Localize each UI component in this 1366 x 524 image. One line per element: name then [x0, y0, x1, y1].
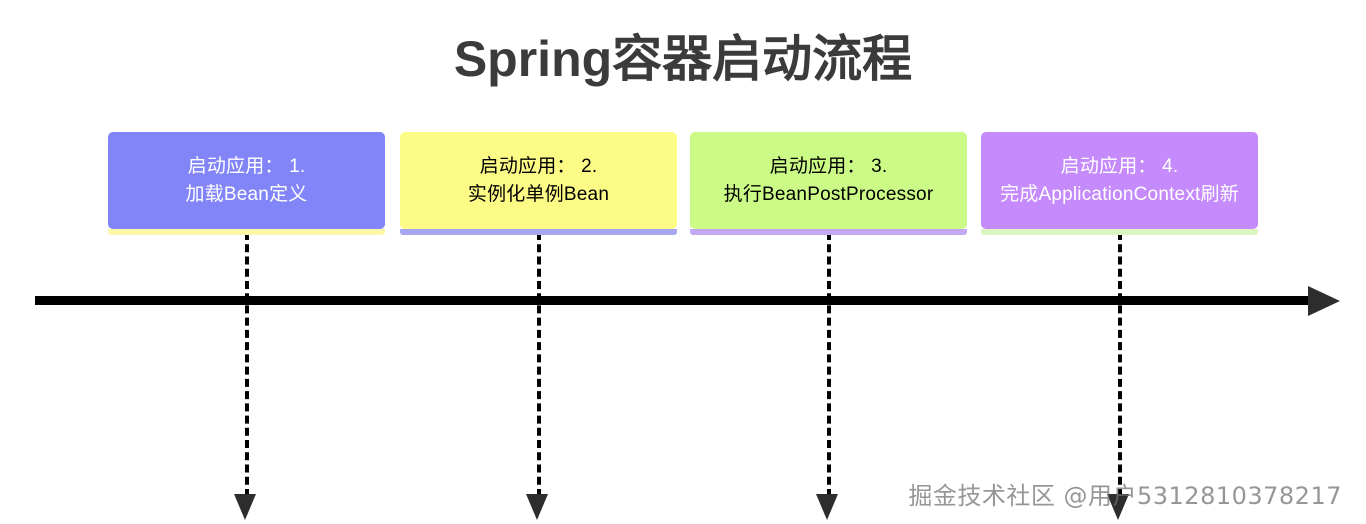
card-shadow-3: [690, 229, 967, 235]
connector-line-4: [1118, 232, 1122, 497]
timeline-card-3-label: 启动应用： 3. 执行BeanPostProcessor: [724, 153, 934, 208]
timeline-card-1-line1: 启动应用： 1.: [186, 153, 308, 181]
timeline-card-4-line1: 启动应用： 4.: [1000, 153, 1239, 181]
timeline-axis-arrow-icon: [1308, 286, 1340, 316]
card-shadow-4: [981, 229, 1258, 235]
timeline-card-2-line1: 启动应用： 2.: [468, 153, 609, 181]
timeline-card-4-label: 启动应用： 4. 完成ApplicationContext刷新: [1000, 153, 1239, 208]
timeline-card-2-line2: 实例化单例Bean: [468, 181, 609, 209]
timeline-card-3-line1: 启动应用： 3.: [724, 153, 934, 181]
timeline-diagram: Spring容器启动流程 启动应用： 1. 加载Bean定义 启动应用： 2. …: [0, 0, 1366, 524]
card-shadow-2: [400, 229, 677, 235]
timeline-card-2-label: 启动应用： 2. 实例化单例Bean: [468, 153, 609, 208]
connector-arrow-3: [816, 494, 838, 520]
timeline-card-3[interactable]: 启动应用： 3. 执行BeanPostProcessor: [690, 132, 967, 229]
card-shadow-1: [108, 229, 385, 235]
connector-arrow-2: [526, 494, 548, 520]
connector-arrow-1: [234, 494, 256, 520]
watermark-text: 掘金技术社区 @用户5312810378217: [908, 476, 1342, 511]
timeline-card-2[interactable]: 启动应用： 2. 实例化单例Bean: [400, 132, 677, 229]
timeline-card-1-line2: 加载Bean定义: [186, 181, 308, 209]
timeline-card-1-label: 启动应用： 1. 加载Bean定义: [186, 153, 308, 208]
timeline-card-4-line2: 完成ApplicationContext刷新: [1000, 181, 1239, 209]
connector-line-1: [245, 232, 249, 497]
timeline-card-1[interactable]: 启动应用： 1. 加载Bean定义: [108, 132, 385, 229]
timeline-card-3-line2: 执行BeanPostProcessor: [724, 181, 934, 209]
timeline-axis-line: [35, 296, 1318, 305]
connector-line-3: [827, 232, 831, 497]
connector-line-2: [537, 232, 541, 497]
timeline-card-4[interactable]: 启动应用： 4. 完成ApplicationContext刷新: [981, 132, 1258, 229]
page-title: Spring容器启动流程: [0, 32, 1366, 87]
